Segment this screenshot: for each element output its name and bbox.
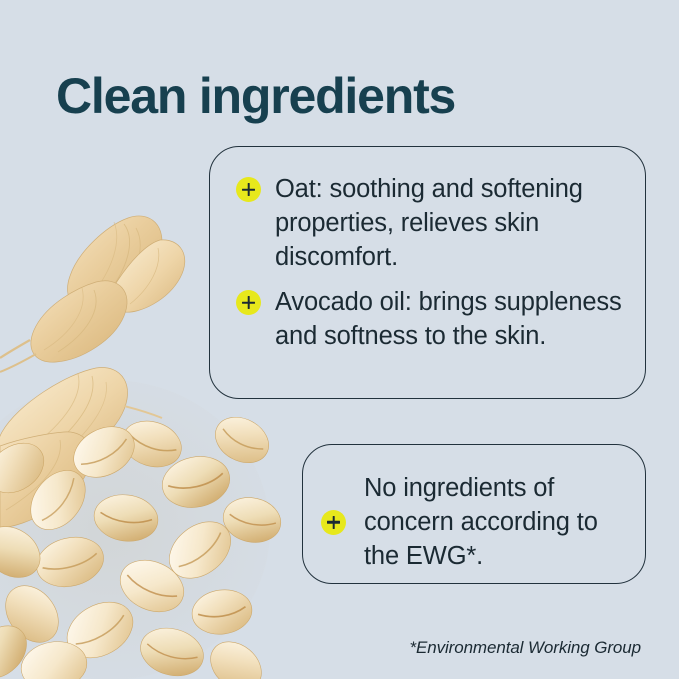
ingredients-card: Oat: soothing and softening properties, … bbox=[209, 146, 646, 399]
plus-badge-icon bbox=[236, 177, 261, 202]
plus-badge-icon bbox=[321, 510, 346, 535]
product-info-panel: Clean ingredients Oat: soothing and soft… bbox=[0, 0, 679, 679]
list-item: Oat: soothing and softening properties, … bbox=[236, 172, 636, 274]
ewg-card: No ingredients of concern according to t… bbox=[302, 444, 646, 584]
list-item: Avocado oil: brings suppleness and softn… bbox=[236, 285, 636, 353]
list-item: No ingredients of concern according to t… bbox=[321, 471, 633, 573]
footnote: *Environmental Working Group bbox=[409, 638, 641, 658]
plus-badge-icon bbox=[236, 290, 261, 315]
page-title: Clean ingredients bbox=[56, 68, 455, 124]
ewg-bullet-list: No ingredients of concern according to t… bbox=[303, 445, 645, 583]
list-item-label: No ingredients of concern according to t… bbox=[364, 471, 633, 573]
list-item-label: Oat: soothing and softening properties, … bbox=[275, 172, 636, 274]
list-item-label: Avocado oil: brings suppleness and softn… bbox=[275, 285, 636, 353]
ingredients-bullet-list: Oat: soothing and softening properties, … bbox=[210, 147, 645, 398]
